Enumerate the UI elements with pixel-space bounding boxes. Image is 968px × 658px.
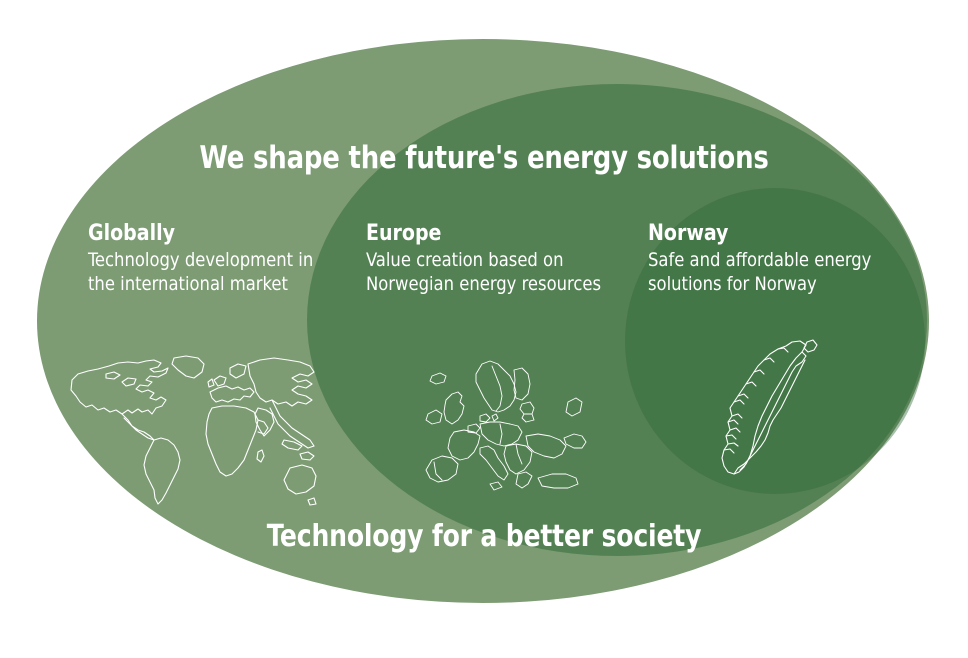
ellipse-norway — [625, 188, 925, 494]
diagram-canvas: We shape the future's energy solutions G… — [0, 0, 968, 658]
venn-ellipses — [0, 0, 968, 658]
